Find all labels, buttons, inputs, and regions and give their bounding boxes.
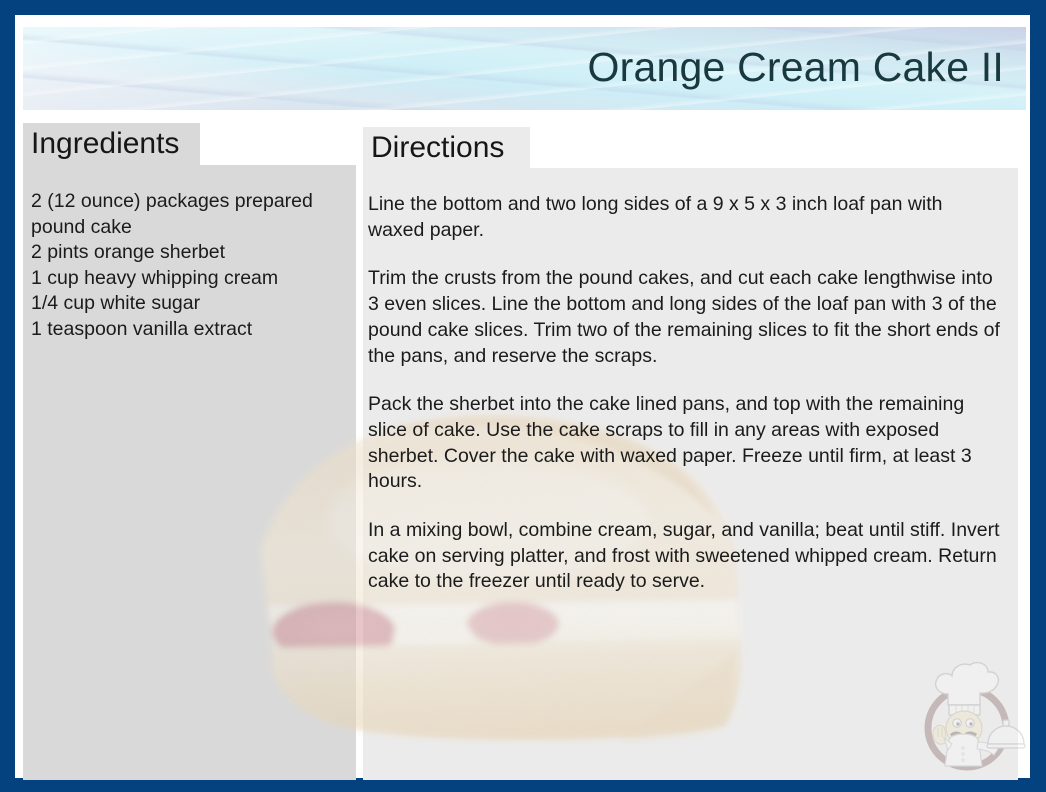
ingredient-item: 2 pints orange sherbet <box>31 240 343 266</box>
frame-border-bottom <box>0 778 1046 792</box>
direction-step: Trim the crusts from the pound cakes, an… <box>368 266 1004 369</box>
frame-border-left <box>0 0 15 792</box>
ingredient-item: 2 (12 ounce) packages prepared pound cak… <box>31 189 343 240</box>
frame-border-top <box>0 0 1046 15</box>
directions-steps: Line the bottom and two long sides of a … <box>363 192 1018 595</box>
direction-step: In a mixing bowl, combine cream, sugar, … <box>368 518 1004 595</box>
direction-step: Line the bottom and two long sides of a … <box>368 192 1004 243</box>
direction-step: Pack the sherbet into the cake lined pan… <box>368 392 1004 495</box>
ingredient-item: 1/4 cup white sugar <box>31 291 343 317</box>
page-title: Orange Cream Cake II <box>588 43 1004 92</box>
directions-heading: Directions <box>363 127 530 169</box>
ingredients-list: 2 (12 ounce) packages prepared pound cak… <box>23 189 353 343</box>
ingredients-heading: Ingredients <box>23 123 200 166</box>
title-banner: Orange Cream Cake II <box>23 27 1026 110</box>
ingredient-item: 1 cup heavy whipping cream <box>31 266 343 292</box>
recipe-slide: Orange Cream Cake II Ingredients 2 (12 o… <box>0 0 1046 792</box>
frame-border-right <box>1030 0 1046 792</box>
ingredient-item: 1 teaspoon vanilla extract <box>31 317 343 343</box>
